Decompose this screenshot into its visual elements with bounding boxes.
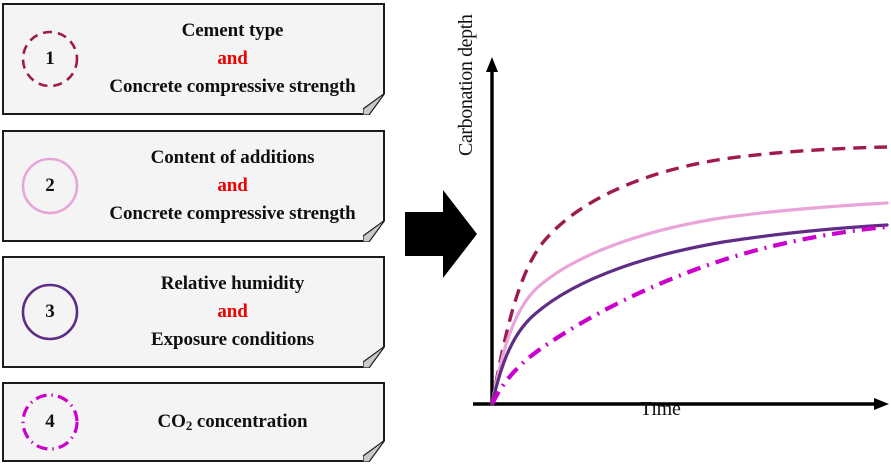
factor-line-3b: and	[217, 302, 247, 322]
chart-y-axis-arrowhead	[486, 57, 498, 72]
factor-line-2a: Content of additions	[151, 148, 315, 168]
co2-formula-suffix: concentration	[192, 411, 307, 432]
factor-marker-3: 3	[18, 280, 82, 344]
factor-line-3a: Relative humidity	[161, 274, 304, 294]
co2-formula-prefix: CO	[158, 411, 186, 432]
factor-number-4: 4	[18, 390, 82, 454]
factor-text-3: Relative humidity and Exposure condition…	[90, 258, 375, 366]
factor-text-1: Cement type and Concrete compressive str…	[90, 5, 375, 113]
chart-x-axis-label: Time	[640, 398, 681, 421]
figure-canvas: 1 Cement type and Concrete compressive s…	[0, 0, 891, 466]
factor-box-2: 2 Content of additions and Concrete comp…	[2, 130, 385, 242]
factor-line-1c: Concrete compressive strength	[109, 77, 355, 97]
factor-box-1: 1 Cement type and Concrete compressive s…	[2, 3, 385, 115]
factor-box-4: 4 CO2 concentration	[2, 382, 385, 462]
factor-line-3c: Exposure conditions	[151, 330, 314, 350]
factor-number-2: 2	[18, 154, 82, 218]
factor-number-1: 1	[18, 27, 82, 91]
factor-box-3: 3 Relative humidity and Exposure conditi…	[2, 256, 385, 368]
factor-line-1b: and	[217, 49, 247, 69]
factor-marker-1: 1	[18, 27, 82, 91]
factor-marker-2: 2	[18, 154, 82, 218]
chart-y-axis-label: Carbonation depth	[455, 0, 478, 156]
factor-number-3: 3	[18, 280, 82, 344]
chart-series-4-co2-concentration	[492, 227, 887, 404]
factor-line-1a: Cement type	[182, 21, 284, 41]
chart-x-axis-arrowhead	[874, 398, 889, 410]
factor-text-2: Content of additions and Concrete compre…	[90, 132, 375, 240]
chart-series-3-relative-humidity	[492, 225, 887, 404]
factor-text-4: CO2 concentration	[90, 384, 375, 460]
chart-series-2-content-of-additions	[492, 203, 887, 404]
factor-line-4a: CO2 concentration	[158, 412, 308, 432]
factor-marker-4: 4	[18, 390, 82, 454]
factor-line-2b: and	[217, 176, 247, 196]
factor-line-2c: Concrete compressive strength	[109, 204, 355, 224]
